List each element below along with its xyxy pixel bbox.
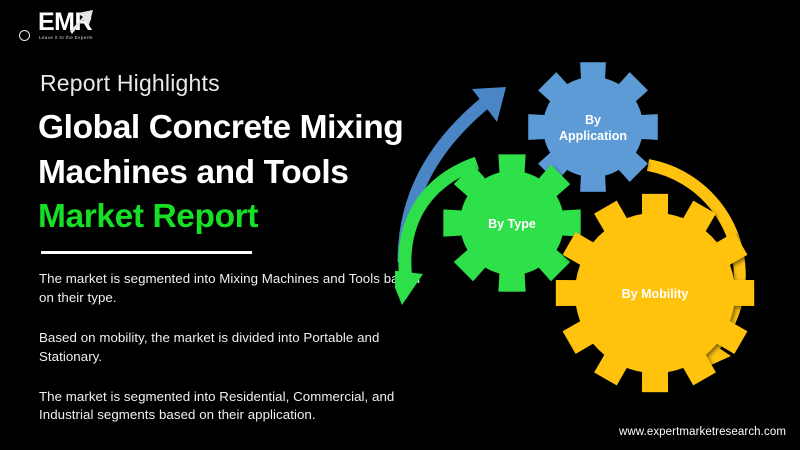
gear-by-type[interactable]: By Type <box>443 154 580 291</box>
highlights-paragraphs: The market is segmented into Mixing Mach… <box>39 270 431 425</box>
gear-label: By Mobility <box>622 287 689 301</box>
title-line-3-accent: Market Report <box>38 198 258 235</box>
page-kicker: Report Highlights <box>40 70 220 97</box>
footer-website-url[interactable]: www.expertmarketresearch.com <box>619 426 786 438</box>
title-divider <box>41 251 252 254</box>
logo-circle-icon <box>19 30 30 41</box>
emr-logo[interactable]: EMR Leave it to the Experts <box>14 8 184 48</box>
gear-label: By <box>585 113 601 127</box>
gear-label: Application <box>559 129 627 143</box>
report-highlights-slide: EMR Leave it to the Experts Report Highl… <box>0 0 800 450</box>
highlight-paragraph: Based on mobility, the market is divided… <box>39 329 431 367</box>
highlight-paragraph: The market is segmented into Mixing Mach… <box>39 270 431 308</box>
segmentation-gear-diagram: ByApplicationBy TypeBy Mobility <box>395 30 800 430</box>
gear-label: By Type <box>488 217 536 231</box>
highlight-paragraph: The market is segmented into Residential… <box>39 388 431 426</box>
title-line-1: Global Concrete Mixing <box>38 109 403 146</box>
growth-arrow-icon <box>69 8 95 36</box>
title-line-2: Machines and Tools <box>38 154 348 191</box>
